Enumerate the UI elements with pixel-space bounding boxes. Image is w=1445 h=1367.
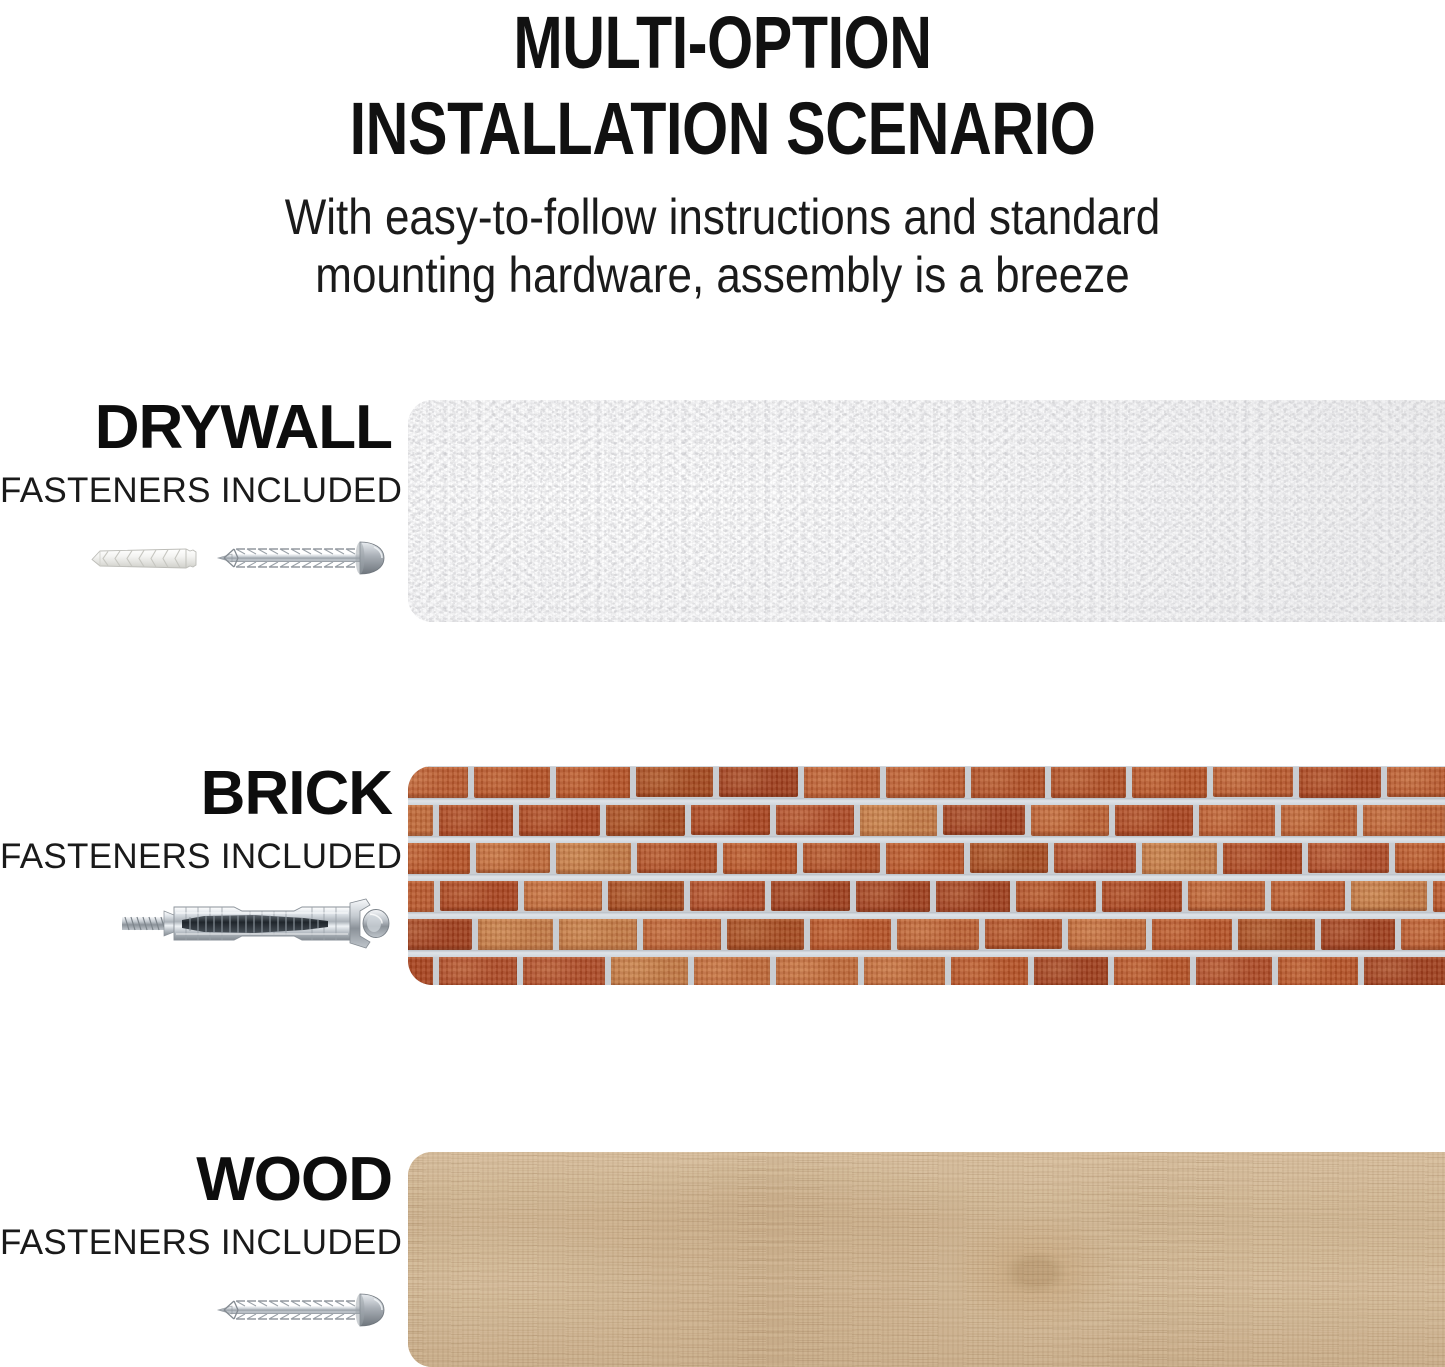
- brick-unit: [519, 804, 600, 836]
- brick-unit: [1223, 842, 1302, 875]
- brick-unit: [523, 956, 605, 985]
- wood-texture: [408, 1152, 1445, 1367]
- wood-screw-icon: [214, 1287, 392, 1333]
- brick-unit: [408, 766, 468, 798]
- brick-unit: [691, 804, 770, 835]
- brick-unit: [694, 956, 770, 985]
- brick-unit: [951, 956, 1028, 985]
- brick-unit: [1102, 880, 1182, 912]
- brick-unit: [408, 918, 472, 950]
- fasteners-note-wood: FASTENERS INCLUDED: [0, 1223, 392, 1263]
- brick-unit: [408, 842, 470, 874]
- wood-hardware-group: [0, 1275, 392, 1345]
- brick-unit: [1068, 918, 1146, 950]
- brick-unit: [1364, 956, 1445, 985]
- infographic-page: MULTI-OPTION INSTALLATION SCENARIO With …: [0, 0, 1445, 1367]
- brick-unit: [897, 918, 979, 950]
- brick-unit: [1433, 880, 1445, 912]
- brick-mortar-line: [408, 836, 1445, 843]
- page-title-line-2: INSTALLATION SCENARIO: [145, 90, 1301, 168]
- brick-unit: [723, 842, 797, 874]
- brick-unit: [804, 766, 880, 799]
- brick-unit: [776, 956, 858, 985]
- brick-mortar-line: [408, 874, 1445, 881]
- brick-surface-panel: [408, 766, 1445, 985]
- brick-unit: [1299, 766, 1381, 798]
- brick-unit: [886, 842, 964, 875]
- brick-unit: [1132, 766, 1207, 798]
- drywall-texture: [408, 400, 1445, 622]
- brick-unit: [1363, 804, 1445, 837]
- section-drywall: DRYWALL FASTENERS INCLUDED: [0, 395, 1445, 630]
- header: MULTI-OPTION INSTALLATION SCENARIO With …: [0, 0, 1445, 304]
- brick-unit: [1321, 918, 1395, 950]
- brick-mortar-line: [408, 766, 1445, 767]
- brick-unit: [606, 804, 685, 836]
- brick-unit: [860, 804, 937, 837]
- brick-unit: [1395, 842, 1445, 873]
- brick-unit: [408, 804, 433, 836]
- brick-unit: [985, 918, 1062, 949]
- brick-unit: [556, 766, 630, 799]
- brick-unit: [690, 880, 765, 911]
- fasteners-note-brick: FASTENERS INCLUDED: [0, 837, 392, 877]
- brick-unit: [1114, 956, 1190, 985]
- wood-label-column: WOOD FASTENERS INCLUDED: [0, 1147, 392, 1367]
- brick-unit: [1115, 804, 1193, 836]
- brick-unit: [1401, 918, 1445, 950]
- brick-unit: [1188, 880, 1265, 911]
- material-name-brick: BRICK: [0, 761, 392, 827]
- brick-unit: [1152, 918, 1232, 951]
- brick-unit: [1054, 842, 1136, 873]
- brick-unit: [636, 766, 713, 797]
- brick-unit: [1142, 842, 1217, 875]
- brick-unit: [771, 880, 850, 911]
- brick-unit: [864, 956, 945, 985]
- page-subtitle-line-2: mounting hardware, assembly is a breeze: [87, 246, 1359, 304]
- material-name-wood: WOOD: [0, 1147, 392, 1213]
- page-subtitle-line-1: With easy-to-follow instructions and sta…: [87, 188, 1359, 246]
- brick-unit: [440, 880, 518, 911]
- brick-unit: [1278, 956, 1358, 985]
- brick-unit: [1308, 842, 1389, 873]
- brick-unit: [886, 766, 965, 798]
- brick-unit: [1281, 804, 1357, 837]
- brick-unit: [439, 804, 513, 837]
- brick-unit: [408, 880, 434, 913]
- brick-unit: [719, 766, 798, 797]
- material-name-drywall: DRYWALL: [0, 395, 392, 461]
- section-brick: BRICK FASTENERS INCLUDED: [0, 761, 1445, 996]
- brick-unit: [408, 956, 433, 985]
- brick-unit: [439, 956, 517, 985]
- brick-unit: [476, 842, 550, 873]
- section-wood: WOOD FASTENERS INCLUDED: [0, 1147, 1445, 1367]
- brick-unit: [637, 842, 717, 873]
- brick-unit: [810, 918, 891, 951]
- brick-unit: [943, 804, 1025, 835]
- brick-mortar-line: [408, 912, 1445, 919]
- brick-unit: [776, 804, 854, 835]
- brick-unit: [727, 918, 804, 950]
- brick-unit: [936, 880, 1010, 913]
- brick-unit: [1213, 766, 1293, 797]
- brick-unit: [1034, 956, 1108, 985]
- metal-hollow-wall-molly-anchor-icon: [114, 893, 392, 955]
- brick-unit: [524, 880, 602, 911]
- drywall-hardware-group: [0, 523, 392, 593]
- brick-hardware-group: [0, 889, 392, 959]
- wood-surface-panel: [408, 1152, 1445, 1367]
- brick-unit: [1387, 766, 1445, 797]
- brick-unit: [611, 956, 688, 985]
- brick-unit: [478, 918, 553, 951]
- brick-mortar-line: [408, 798, 1445, 805]
- brick-unit: [559, 918, 637, 951]
- wood-screw-icon: [214, 535, 392, 581]
- brick-unit: [474, 766, 550, 798]
- brick-unit: [803, 842, 880, 873]
- brick-unit: [556, 842, 631, 874]
- brick-unit: [608, 880, 684, 911]
- brick-unit: [1238, 918, 1315, 951]
- brick-unit: [1199, 804, 1275, 837]
- brick-row: [408, 956, 1445, 985]
- brick-unit: [970, 842, 1048, 873]
- brick-unit: [856, 880, 930, 912]
- brick-unit: [1271, 880, 1345, 911]
- plastic-wall-anchor-icon: [86, 538, 204, 578]
- brick-texture: [408, 766, 1445, 985]
- brick-unit: [1016, 880, 1096, 912]
- drywall-label-column: DRYWALL FASTENERS INCLUDED: [0, 395, 392, 630]
- drywall-surface-panel: [408, 400, 1445, 622]
- page-title-line-1: MULTI-OPTION: [145, 4, 1301, 82]
- brick-mortar-line: [408, 950, 1445, 957]
- brick-unit: [1031, 804, 1109, 836]
- brick-unit: [1196, 956, 1272, 985]
- brick-unit: [971, 766, 1045, 799]
- brick-unit: [1351, 880, 1427, 911]
- brick-label-column: BRICK FASTENERS INCLUDED: [0, 761, 392, 996]
- brick-unit: [1051, 766, 1126, 798]
- fasteners-note-drywall: FASTENERS INCLUDED: [0, 471, 392, 511]
- brick-unit: [643, 918, 721, 951]
